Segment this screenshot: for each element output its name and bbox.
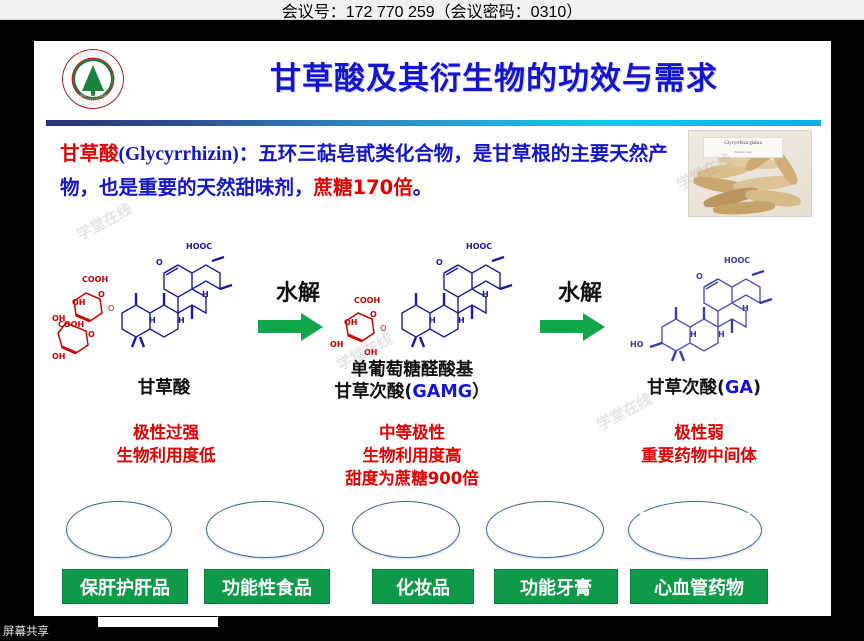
- meeting-number-text: 会议号：172 770 259（会议密码：0310）: [282, 0, 583, 22]
- property-line: 极性过强: [76, 421, 256, 444]
- svg-text:H: H: [690, 330, 697, 339]
- svg-text:O: O: [436, 258, 443, 267]
- compound-name-3: 甘草次酸(GA): [604, 377, 804, 399]
- svg-text:H: H: [458, 316, 465, 325]
- slide-title-row: 内蒙古工业大学 INNER MONGOLIA INSTITUTE OF TECH…: [34, 41, 831, 115]
- svg-text:OH: OH: [52, 352, 66, 361]
- svg-text:O: O: [98, 290, 105, 299]
- compound-name-line: 甘草次酸(GA): [604, 377, 804, 399]
- compound-name-line: 甘草酸: [84, 377, 244, 399]
- compound-name-line2: 甘草次酸(GAMG）: [302, 381, 522, 403]
- species-subtext: licorice root: [704, 148, 782, 156]
- compound-name-prefix: 甘草次酸(: [334, 382, 412, 402]
- intro-highlight: 蔗糖170倍: [314, 176, 413, 199]
- compound-name-prefix: 甘草次酸(: [647, 378, 725, 398]
- properties-glycyrrhizin: 极性过强 生物利用度低: [76, 421, 256, 467]
- box-label: 功能牙膏: [520, 574, 592, 600]
- svg-text:COOH: COOH: [354, 296, 380, 305]
- hydrolysis-arrow-2: 水解: [534, 275, 626, 339]
- oval-label: 抗肿瘤: [236, 519, 293, 540]
- status-bar: 屏幕共享: [0, 617, 864, 641]
- compound-abbreviation: GA: [725, 378, 753, 398]
- activity-oval-antitumor[interactable]: 抗肿瘤: [206, 501, 324, 558]
- presentation-slide: 内蒙古工业大学 INNER MONGOLIA INSTITUTE OF TECH…: [34, 41, 831, 616]
- application-box-functional-food[interactable]: 功能性食品: [204, 569, 330, 604]
- oval-label: 抗病毒: [516, 519, 573, 540]
- species-name: Glycyrrhiza glabra: [724, 141, 762, 146]
- svg-text:O: O: [156, 258, 163, 267]
- box-label: 心血管药物: [654, 574, 744, 600]
- structure-gamg: COOHOH OHOH O O O HOOC HHH: [324, 227, 539, 367]
- svg-text:OH: OH: [344, 318, 358, 327]
- screen-sharing-status: 屏幕共享: [3, 623, 49, 639]
- logo-top-text: 内蒙古工业大学: [62, 52, 124, 58]
- activity-oval-antiviral[interactable]: 抗病毒: [486, 501, 604, 558]
- compound-abbreviation: GAMG: [412, 382, 472, 402]
- svg-text:H: H: [429, 316, 436, 325]
- activity-oval-row: 抗菌 抗肿瘤 消炎 抗病毒 胆固醇合成抑制剂: [34, 501, 831, 561]
- compound-name-line1: 单葡萄糖醛酸基: [302, 359, 522, 381]
- hydrolysis-label: 水解: [534, 275, 626, 307]
- svg-text:COOH: COOH: [58, 320, 84, 329]
- intro-term: 甘草酸: [60, 142, 119, 165]
- oval-label: 消炎: [387, 519, 425, 540]
- property-line: 生物利用度高: [312, 444, 512, 467]
- activity-oval-antiinflammatory[interactable]: 消炎: [352, 501, 460, 558]
- svg-text:H: H: [149, 316, 156, 325]
- svg-text:O: O: [370, 310, 377, 319]
- svg-text:O: O: [380, 324, 386, 333]
- svg-text:O: O: [696, 272, 703, 281]
- application-box-toothpaste[interactable]: 功能牙膏: [494, 569, 618, 604]
- svg-text:H: H: [742, 304, 749, 313]
- svg-text:HO: HO: [630, 340, 644, 349]
- property-line: 重要药物中间体: [594, 444, 804, 467]
- status-highlight-chip: [98, 617, 218, 627]
- licorice-root-photo: Glycyrrhiza glabra licorice root: [688, 130, 812, 217]
- intro-colon: ：: [239, 142, 259, 165]
- activity-oval-antibacterial[interactable]: 抗菌: [66, 501, 172, 558]
- svg-text:OH: OH: [72, 298, 86, 307]
- compound-name-suffix: ）: [472, 382, 490, 402]
- svg-text:COOH: COOH: [82, 275, 108, 284]
- application-box-cosmetics[interactable]: 化妆品: [372, 569, 474, 604]
- svg-text:HOOC: HOOC: [724, 256, 750, 265]
- svg-text:OH: OH: [330, 340, 344, 349]
- oval-label: 胆固醇合成抑制剂: [637, 509, 753, 551]
- properties-ga: 极性弱 重要药物中间体: [594, 421, 804, 467]
- university-logo-icon: 内蒙古工业大学 INNER MONGOLIA INSTITUTE OF TECH…: [62, 49, 124, 109]
- photo-species-label: Glycyrrhiza glabra licorice root: [703, 137, 783, 158]
- box-label: 功能性食品: [222, 574, 312, 600]
- compound-name-2: 单葡萄糖醛酸基 甘草次酸(GAMG）: [302, 359, 522, 403]
- structure-ga: O HOOC HO HHH: [624, 231, 824, 371]
- box-label: 保肝护肝品: [80, 574, 170, 600]
- application-box-cardiovascular-drug[interactable]: 心血管药物: [630, 569, 768, 604]
- svg-text:O: O: [108, 304, 114, 313]
- compound-name-suffix: ): [753, 378, 761, 398]
- oval-label: 抗菌: [100, 519, 138, 540]
- logo-inner-disc: [73, 59, 113, 99]
- application-box-row: 保肝护肝品 功能性食品 化妆品 功能牙膏 心血管药物: [34, 569, 831, 605]
- property-line: 极性弱: [594, 421, 804, 444]
- meeting-info-bar: 会议号：172 770 259（会议密码：0310）: [0, 0, 864, 20]
- page-title: 甘草酸及其衍生物的功效与需求: [184, 53, 804, 98]
- intro-latin-name: (Glycyrrhizin): [119, 144, 239, 165]
- svg-text:HOOC: HOOC: [186, 242, 212, 251]
- svg-text:HOOC: HOOC: [466, 242, 492, 251]
- green-arrow-icon: [534, 311, 626, 339]
- svg-text:H: H: [202, 290, 209, 299]
- activity-oval-cholesterol-inhibitor[interactable]: 胆固醇合成抑制剂: [628, 501, 762, 559]
- svg-text:OH: OH: [364, 348, 378, 357]
- logo-tree-shape: [82, 65, 104, 91]
- structure-glycyrrhizin: COOHOH OHCOOH OH OO O O HOOC HHH: [44, 227, 259, 367]
- property-line: 中等极性: [312, 421, 512, 444]
- application-box-liver-care[interactable]: 保肝护肝品: [62, 569, 188, 604]
- logo-bottom-text: INNER MONGOLIA INSTITUTE OF TECHNOLOGY: [62, 94, 124, 106]
- svg-text:H: H: [718, 330, 725, 339]
- property-line: 甜度为蔗糖900倍: [312, 467, 512, 490]
- box-label: 化妆品: [396, 574, 450, 600]
- properties-gamg: 中等极性 生物利用度高 甜度为蔗糖900倍: [312, 421, 512, 490]
- intro-period: 。: [413, 176, 433, 199]
- property-line: 生物利用度低: [76, 444, 256, 467]
- intro-paragraph: 甘草酸(Glycyrrhizin)：五环三萜皂甙类化合物，是甘草根的主要天然产物…: [60, 137, 670, 204]
- title-divider: [46, 120, 821, 126]
- compound-name-1: 甘草酸: [84, 377, 244, 399]
- svg-text:O: O: [88, 330, 95, 339]
- svg-text:H: H: [482, 290, 489, 299]
- svg-text:H: H: [178, 316, 185, 325]
